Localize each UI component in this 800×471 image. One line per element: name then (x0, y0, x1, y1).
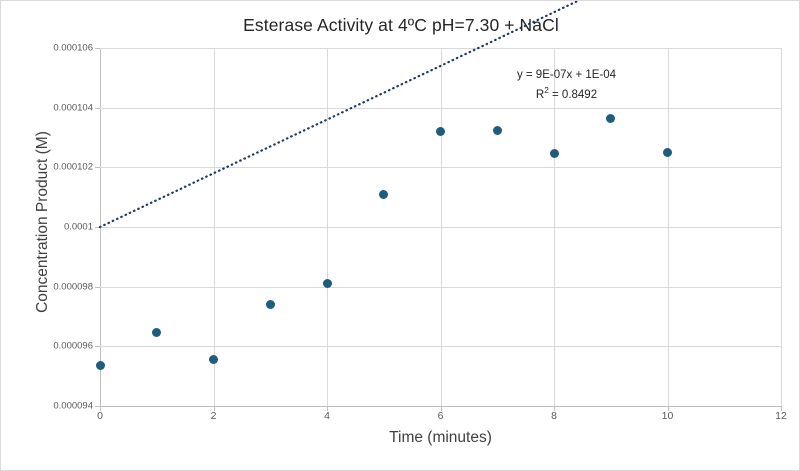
data-point[interactable] (323, 279, 332, 288)
x-axis-tick-mark (100, 406, 101, 411)
x-axis-tick-label: 10 (648, 410, 688, 422)
x-axis-tick-label: 12 (761, 410, 800, 422)
chart-screenshot: Esterase Activity at 4ºC pH=7.30 + NaCl … (0, 0, 800, 471)
data-point[interactable] (550, 149, 559, 158)
trendline-equation-annotation: y = 9E-07x + 1E-04 R2 = 0.8492 (479, 67, 654, 103)
data-point[interactable] (379, 190, 388, 199)
data-point[interactable] (96, 361, 105, 370)
data-point[interactable] (663, 148, 672, 157)
trendline-r-squared-text: R2 = 0.8492 (479, 83, 654, 103)
trendline (100, 48, 781, 406)
x-axis-tick-mark (668, 406, 669, 411)
data-point[interactable] (266, 300, 275, 309)
x-axis-tick-mark (214, 406, 215, 411)
r-squared-value: = 0.8492 (549, 89, 597, 101)
x-axis-tick-label: 2 (194, 410, 234, 422)
x-axis-tick-mark (781, 406, 782, 411)
x-axis-tick-label: 0 (80, 410, 120, 422)
x-axis-title: Time (minutes) (100, 429, 781, 447)
y-axis-tick-label: 0.000106 (1, 43, 93, 54)
x-axis-tick-label: 6 (421, 410, 461, 422)
chart-title: Esterase Activity at 4ºC pH=7.30 + NaCl (1, 15, 800, 36)
data-point[interactable] (606, 114, 615, 123)
data-point[interactable] (493, 126, 502, 135)
r-squared-symbol: R (536, 89, 544, 101)
x-axis-tick-mark (554, 406, 555, 411)
x-axis-tick-label: 8 (534, 410, 574, 422)
y-axis-title: Concentration Product (M) (34, 72, 52, 372)
x-axis-tick-label: 4 (307, 410, 347, 422)
trendline-equation-text: y = 9E-07x + 1E-04 (479, 67, 654, 83)
gridline-vertical (781, 48, 782, 406)
data-point[interactable] (436, 127, 445, 136)
plot-area (100, 48, 781, 406)
x-axis-tick-mark (327, 406, 328, 411)
x-axis-tick-mark (441, 406, 442, 411)
